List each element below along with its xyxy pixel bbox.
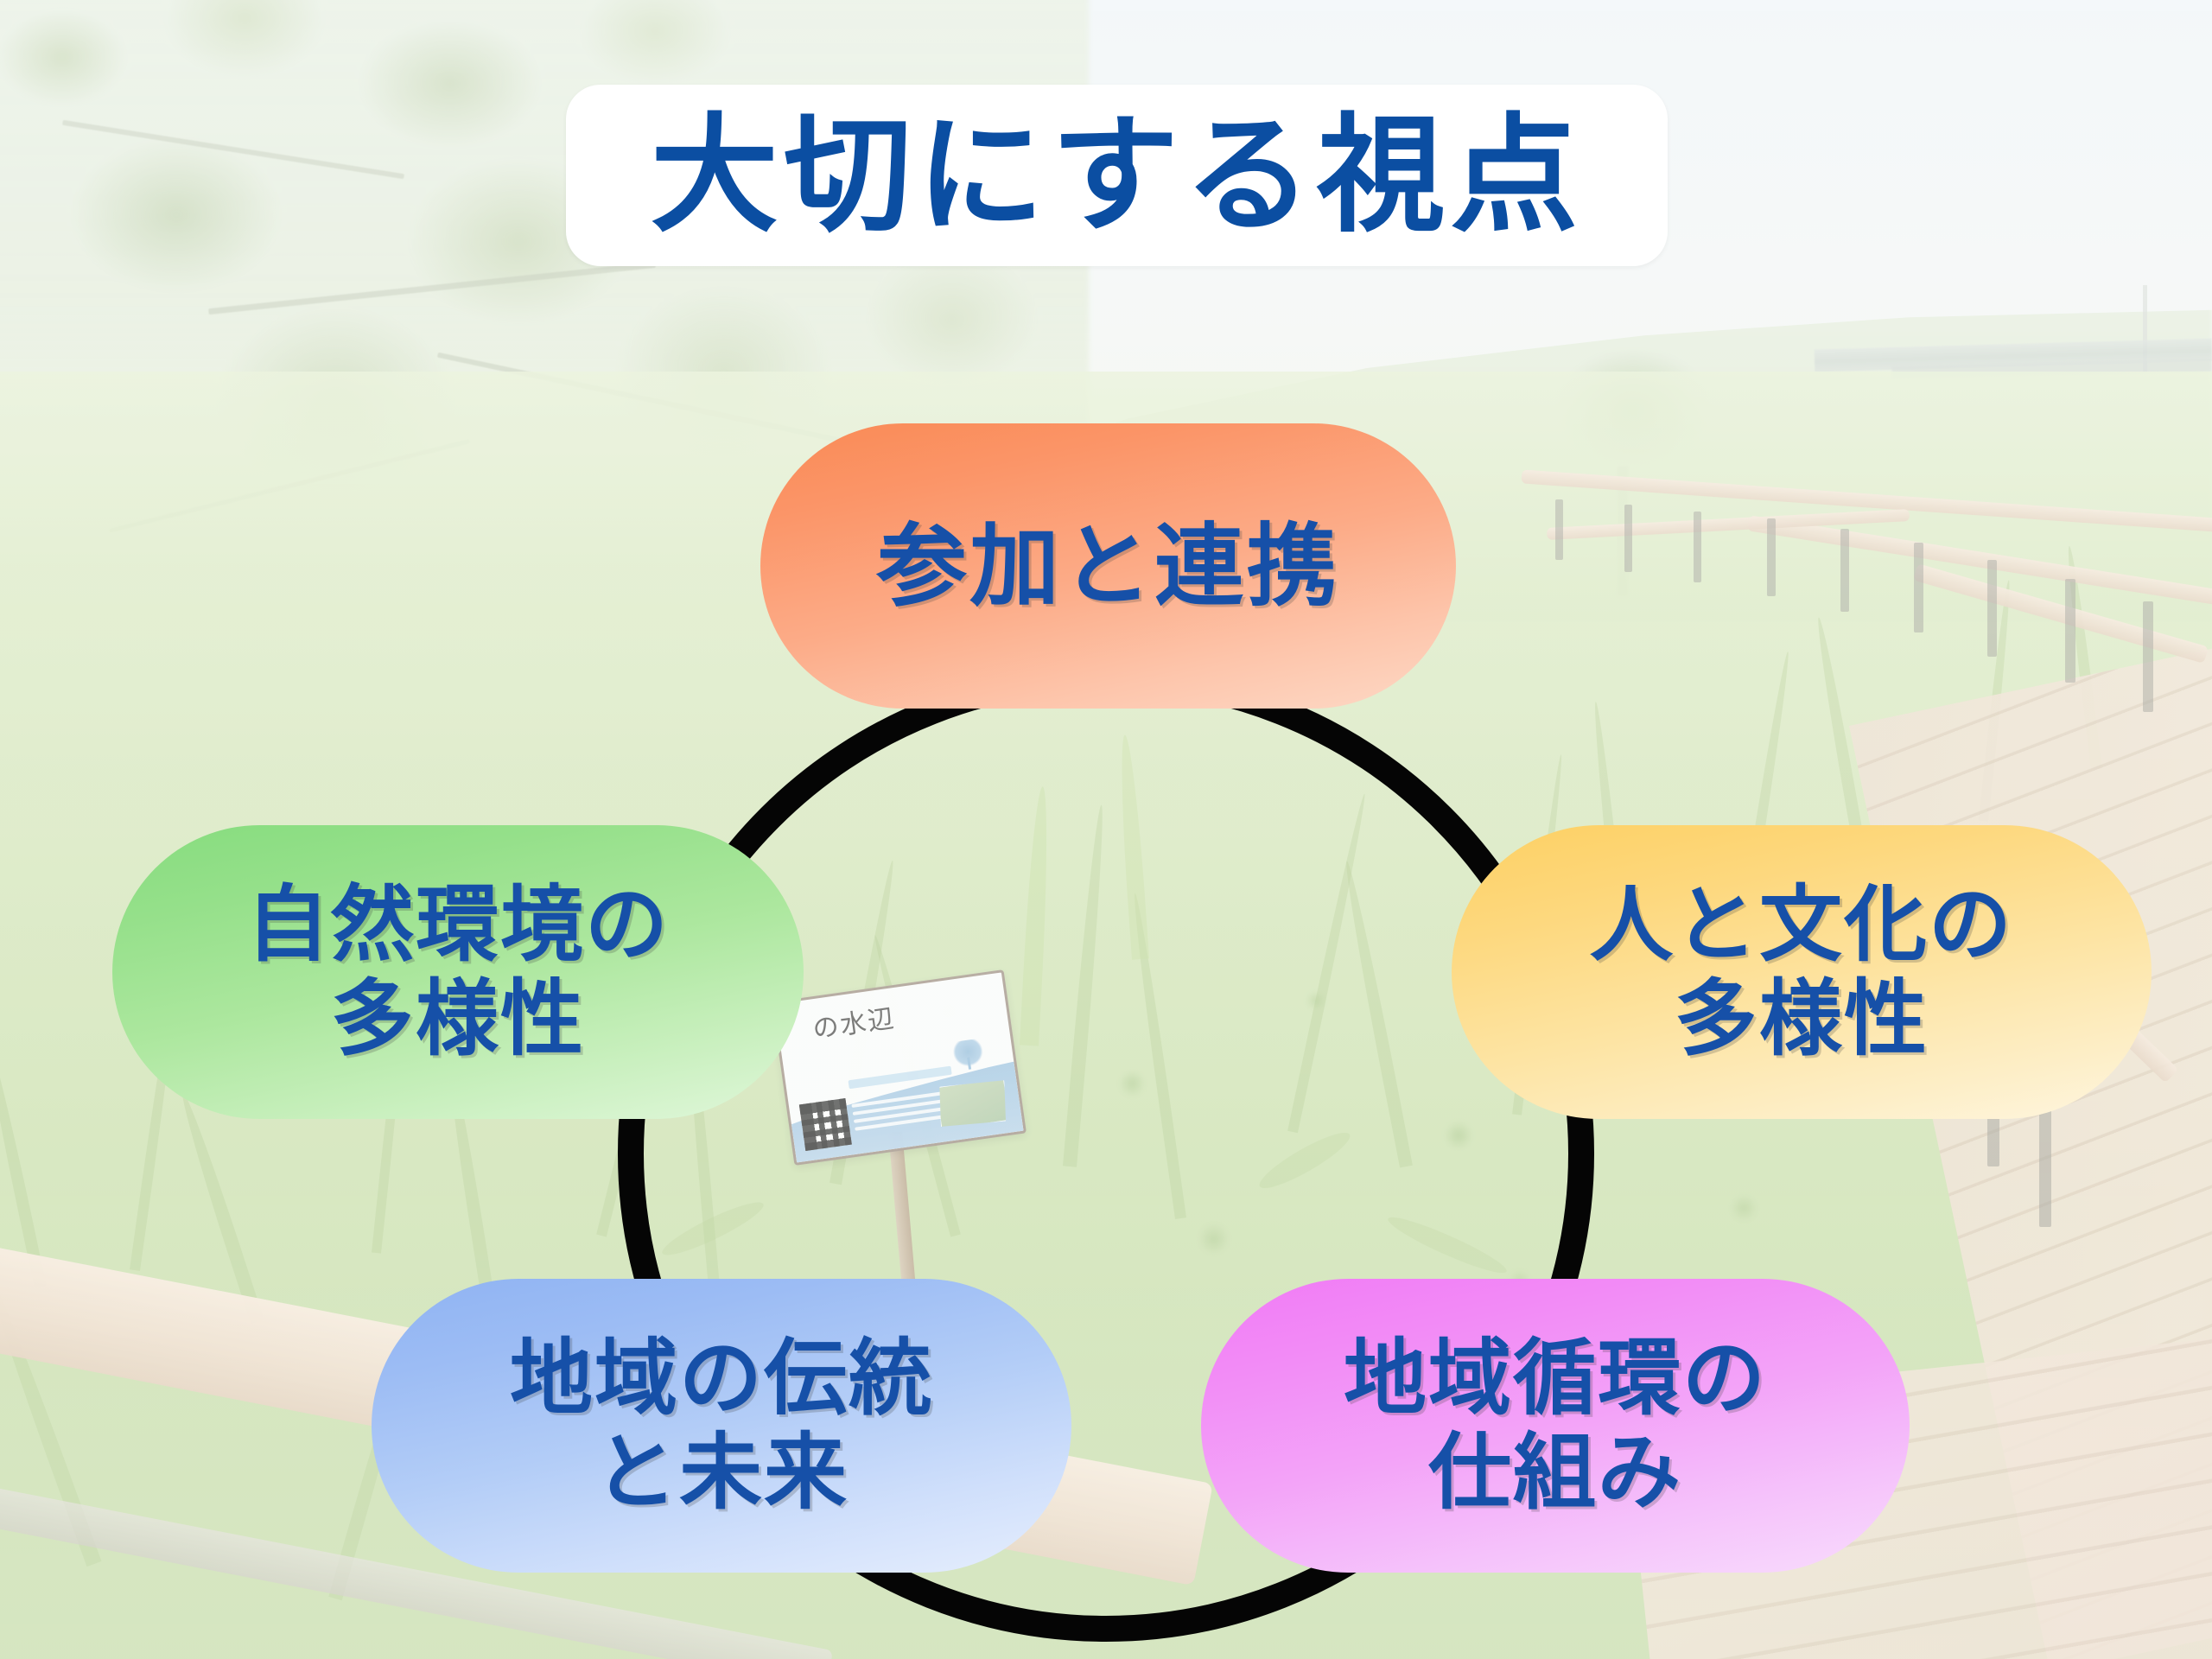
title-box: 大切にする視点 <box>566 85 1668 266</box>
cycle-node-tradition[interactable]: 地域の伝統 と未来 <box>372 1279 1071 1573</box>
cycle-node-nature-line1: 自然環境の <box>246 878 670 972</box>
cycle-node-nature[interactable]: 自然環境の 多様性 <box>112 825 804 1119</box>
cycle-node-participation-line1: 参加と連携 <box>877 515 1339 618</box>
cycle-node-culture-line2: 多様性 <box>1675 972 1929 1066</box>
cycle-node-tradition-line2: と未来 <box>594 1426 849 1520</box>
cycle-node-tradition-line1: 地域の伝統 <box>510 1332 933 1426</box>
cycle-node-circulation[interactable]: 地域循環の 仕組み <box>1201 1279 1910 1573</box>
cycle-node-circulation-line2: 仕組み <box>1428 1426 1682 1520</box>
cycle-node-culture-line1: 人と文化の <box>1590 878 2013 972</box>
cycle-node-participation[interactable]: 参加と連携 <box>760 423 1456 709</box>
page-title: 大切にする視点 <box>651 111 1583 239</box>
cycle-node-culture[interactable]: 人と文化の 多様性 <box>1452 825 2152 1119</box>
cycle-node-nature-line2: 多様性 <box>331 972 585 1066</box>
cycle-node-circulation-line1: 地域循環の <box>1344 1332 1767 1426</box>
slide-canvas: の水辺 大切にする視点 参加と連携 人と文化の 多様性 地域循環の 仕組み 地域… <box>0 0 2212 1659</box>
